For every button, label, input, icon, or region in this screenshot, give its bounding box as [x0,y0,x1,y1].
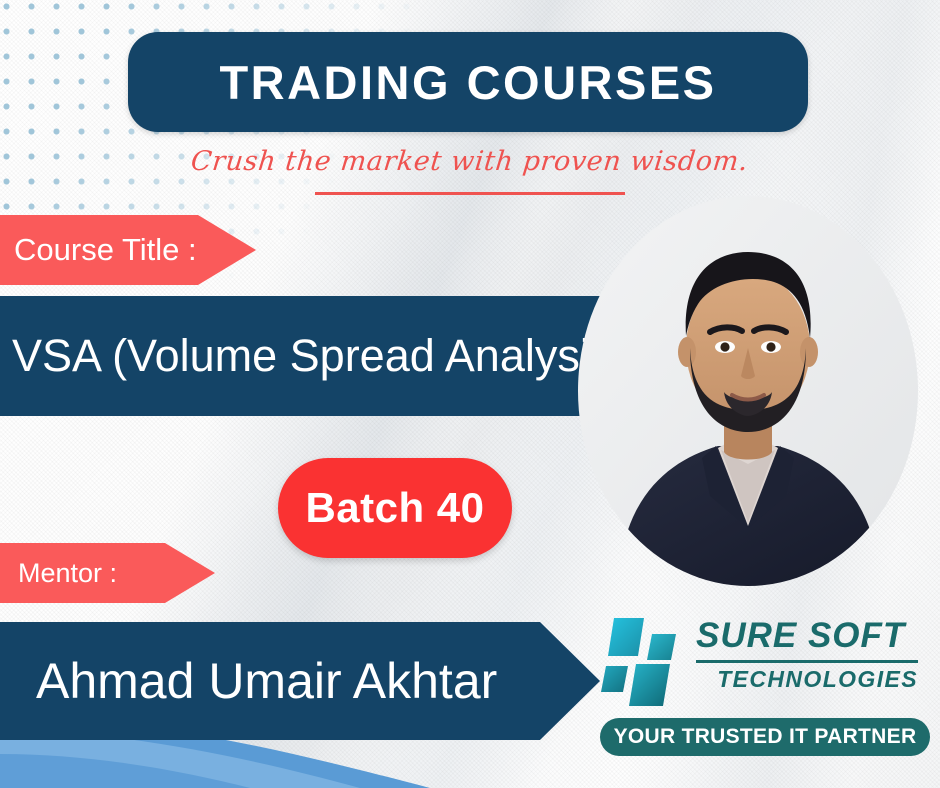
tagline-text: Crush the market with proven wisdom. [190,146,750,177]
course-name: VSA (Volume Spread Analysis) [12,330,627,382]
logo-tagline-pill: YOUR TRUSTED IT PARTNER [600,718,930,756]
mentor-name: Ahmad Umair Akhtar [36,652,497,710]
poster-title-banner: TRADING COURSES [128,32,808,132]
logo-top-row: SURE SOFT TECHNOLOGIES [600,612,930,710]
mentor-label: Mentor : [18,558,117,589]
course-name-banner: VSA (Volume Spread Analysis) [0,296,666,416]
mentor-name-banner: Ahmad Umair Akhtar [0,622,600,740]
tagline-underline [315,192,625,195]
page-title: TRADING COURSES [219,55,716,110]
batch-label: Batch 40 [305,484,484,532]
course-title-label: Course Title : [14,232,197,268]
poster-canvas: TRADING COURSES Crush the market with pr… [0,0,940,788]
logo-divider [696,660,918,663]
tagline-block: Crush the market with proven wisdom. [0,146,940,177]
company-logo: SURE SOFT TECHNOLOGIES YOUR TRUSTED IT P… [600,612,930,760]
logo-tagline: YOUR TRUSTED IT PARTNER [614,725,917,749]
logo-company-name: SURE SOFT [696,618,918,653]
batch-badge: Batch 40 [278,458,512,558]
logo-wordmark: SURE SOFT TECHNOLOGIES [696,612,918,691]
mentor-label-banner: Mentor : [0,543,215,603]
mentor-portrait [578,196,918,586]
logo-company-subtitle: TECHNOLOGIES [696,668,918,691]
logo-tiles-icon [600,612,688,710]
